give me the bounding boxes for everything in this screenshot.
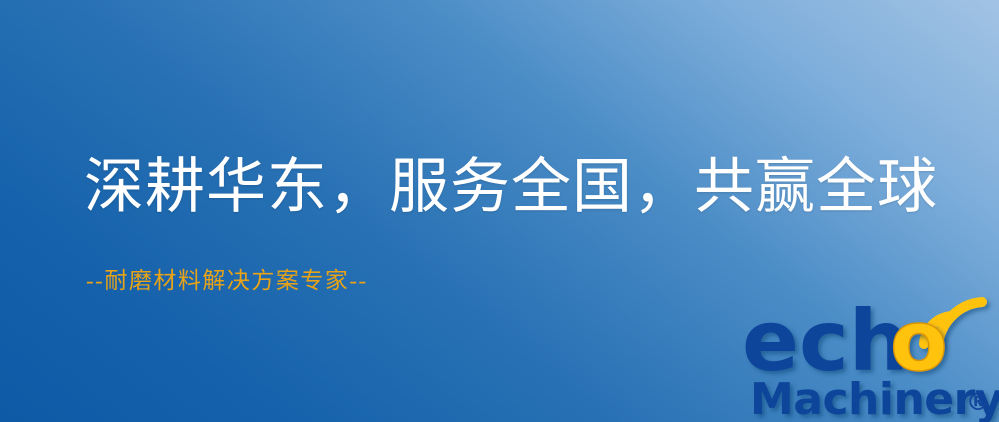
- banner-subtitle: --耐磨材料解决方案专家--: [86, 266, 368, 296]
- banner-headline: 深耕华东，服务全国，共赢全球: [84, 152, 938, 222]
- hero-banner: 深耕华东，服务全国，共赢全球 --耐磨材料解决方案专家-- ech o Mach…: [0, 0, 999, 422]
- echo-machinery-logo[interactable]: ech o Machinery ®: [742, 292, 999, 422]
- logo-tagline: Machinery: [750, 374, 999, 422]
- registered-trademark-icon: ®: [966, 388, 990, 416]
